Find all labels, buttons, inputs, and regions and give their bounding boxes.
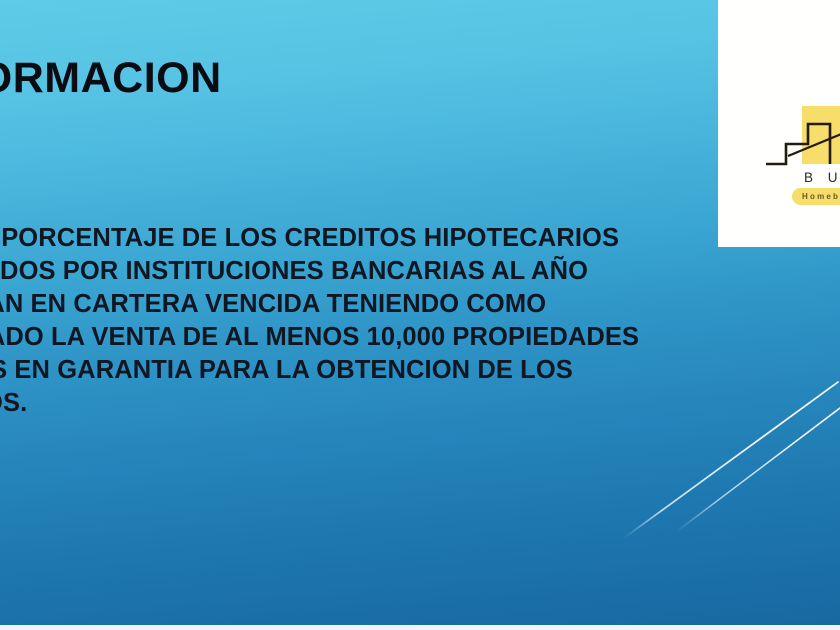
slide-body-text: EL ALTO PORCENTAJE DE LOS CREDITOS HIPOT… (0, 222, 728, 420)
logo-tagline-text: Homeb (802, 192, 840, 201)
logo-wordmark: B U (804, 170, 840, 185)
logo-panel: B U Homeb (718, 0, 840, 247)
company-logo: B U Homeb (764, 86, 840, 226)
building-stairs-icon (764, 86, 840, 176)
body-line: TERMINAN EN CARTERA VENCIDA TENIENDO COM… (0, 288, 728, 321)
body-line: OTORGADOS POR INSTITUCIONES BANCARIAS AL… (0, 255, 728, 288)
body-line: RESULTADO LA VENTA DE AL MENOS 10,000 PR… (0, 321, 728, 354)
body-line: CREDITOS. (0, 387, 728, 420)
body-line: EL ALTO PORCENTAJE DE LOS CREDITOS HIPOT… (0, 222, 728, 255)
diagonal-line-2 (676, 408, 840, 532)
logo-tagline-pill: Homeb (792, 188, 840, 205)
page-title: INFORMACION (0, 56, 608, 102)
body-line: PUESTAS EN GARANTIA PARA LA OBTENCION DE… (0, 354, 728, 387)
presentation-slide: INFORMACION EL ALTO PORCENTAJE DE LOS CR… (0, 0, 840, 630)
bottom-edge-strip (0, 625, 840, 630)
